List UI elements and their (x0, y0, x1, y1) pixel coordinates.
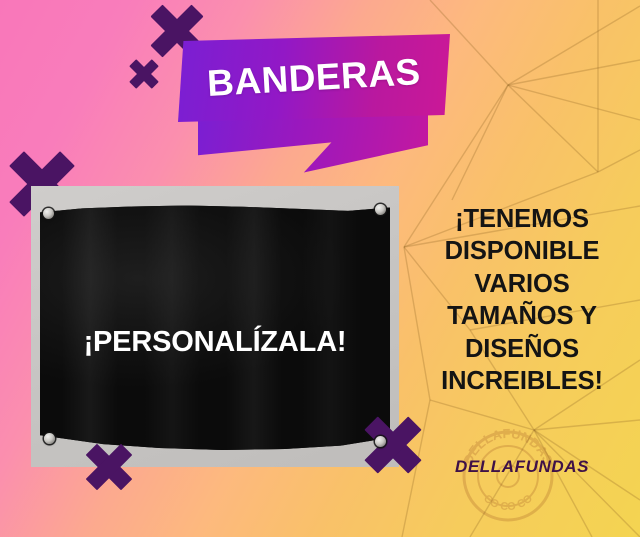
ribbon-label: BANDERAS (206, 51, 422, 105)
promo-poster: BANDERAS ¡PERSONALÍZALA! ¡TENEMOS DISPON… (0, 0, 640, 537)
grommet-bottom-left (44, 433, 55, 444)
cross-icon-bottom-left (84, 442, 134, 492)
product-photo: ¡PERSONALÍZALA! (31, 186, 399, 467)
promo-copy: ¡TENEMOS DISPONIBLE VARIOS TAMAÑOS Y DIS… (408, 203, 636, 397)
svg-text:CO CO CO: CO CO CO (481, 492, 535, 513)
banderas-ribbon: BANDERAS (178, 34, 450, 174)
brand-name: DELLAFUNDAS (408, 457, 636, 477)
copy-line: ¡TENEMOS (408, 203, 636, 235)
ribbon-banner: BANDERAS (178, 34, 450, 122)
grommet-top-left (43, 208, 54, 219)
copy-line: DISEÑOS (408, 333, 636, 365)
grommet-bottom-right (375, 436, 386, 447)
copy-line: VARIOS (408, 268, 636, 300)
copy-line: DISPONIBLE (408, 235, 636, 267)
cross-icon-top-small (128, 58, 160, 90)
grommet-top-right (375, 204, 386, 215)
copy-line: INCREIBLES! (408, 365, 636, 397)
copy-line: TAMAÑOS Y (408, 300, 636, 332)
black-banner: ¡PERSONALÍZALA! (40, 205, 390, 450)
banner-text: ¡PERSONALÍZALA! (40, 326, 390, 359)
